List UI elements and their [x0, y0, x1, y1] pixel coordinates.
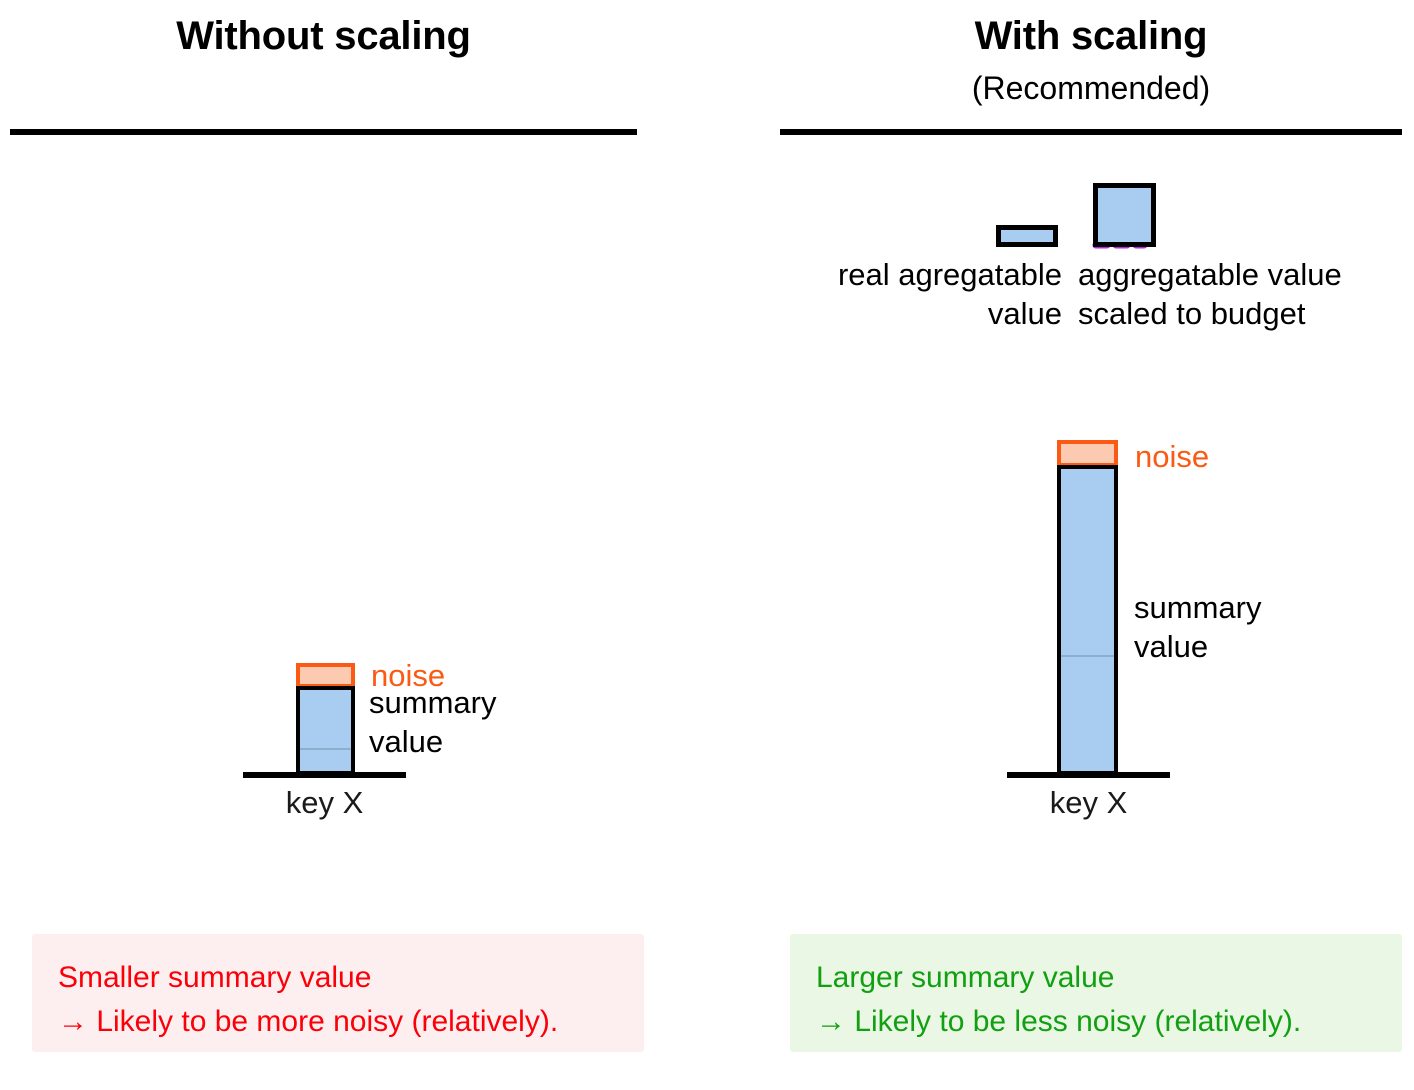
- right-noise-segment: [1057, 440, 1118, 467]
- legend-scaled-value-label-line1: aggregatable value: [1078, 256, 1408, 294]
- left-summary-label-line2: value: [369, 723, 443, 761]
- right-summary-label-line1: summary: [1134, 589, 1261, 627]
- legend-scaled-value-label-line2: scaled to budget: [1078, 295, 1408, 333]
- right-noise-label: noise: [1135, 438, 1209, 476]
- scaling-legend-group: real agregatable value aggregatable valu…: [800, 178, 1400, 328]
- right-baseline: [1007, 772, 1170, 778]
- legend-real-value-label-line1: real agregatable: [800, 256, 1062, 294]
- legend-real-value-label-line2: value: [800, 295, 1062, 333]
- figure-canvas: Without scaling noise summary value key …: [0, 0, 1414, 1090]
- right-axis-label: key X: [1007, 784, 1170, 822]
- left-panel-rule: [10, 129, 637, 135]
- right-panel-title: With scaling: [780, 16, 1402, 56]
- left-bar-group: noise summary value key X: [243, 660, 483, 840]
- left-noise-segment: [296, 663, 355, 688]
- left-axis-label: key X: [243, 784, 406, 822]
- right-panel-subtitle: (Recommended): [780, 72, 1402, 104]
- left-panel-title: Without scaling: [10, 16, 637, 56]
- right-panel-rule: [780, 129, 1402, 135]
- left-summary-label-line1: summary: [369, 684, 496, 722]
- left-baseline: [243, 772, 406, 778]
- right-bar-inner-divider: [1061, 655, 1114, 657]
- left-callout: Smaller summary value → Likely to be mor…: [32, 934, 644, 1052]
- left-summary-segment: [296, 686, 355, 775]
- right-summary-segment: [1057, 465, 1118, 775]
- left-bar-inner-divider: [300, 748, 351, 750]
- legend-real-value-bar: [996, 225, 1058, 247]
- right-callout: Larger summary value → Likely to be less…: [790, 934, 1402, 1052]
- right-summary-label-line2: value: [1134, 628, 1208, 666]
- legend-scaled-value-bar: [1093, 183, 1156, 247]
- right-bar-group: noise summary value key X: [1007, 438, 1337, 838]
